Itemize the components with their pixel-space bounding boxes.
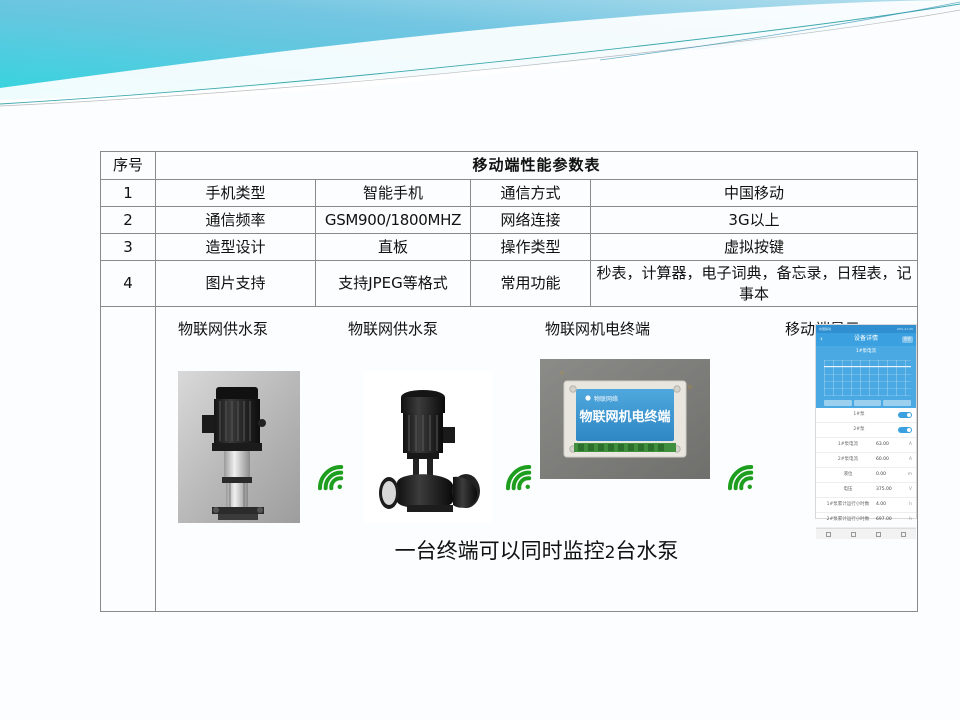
figure-cell: 物联网供水泵 物联网供水泵 物联网机电终端 移动端显示 [156, 307, 918, 612]
list-item[interactable]: 2#泵 [816, 423, 916, 438]
row-key1: 手机类型 [156, 180, 316, 207]
figure-wrapper: 物联网供水泵 物联网供水泵 物联网机电终端 移动端显示 [160, 309, 913, 609]
list-item: 2#泵累计运行小时数 697.00 h [816, 513, 916, 528]
list-item-label: 1#泵累计运行小时数 [820, 502, 876, 508]
row-no: 1 [101, 180, 156, 207]
list-item-label: 2#泵 [820, 427, 898, 433]
list-item-value: 0.00 [876, 472, 902, 478]
figure-row-no-cell [101, 307, 156, 612]
phone-status-bar: 中国移动 40% 21:45 [816, 325, 916, 333]
phone-back-icon[interactable] [876, 532, 881, 537]
figure-label-terminal: 物联网机电终端 [545, 319, 650, 339]
row-key1: 通信频率 [156, 207, 316, 234]
row-val1: GSM900/1800MHZ [316, 207, 471, 234]
phone-nav-bar: ‹ 设备详情 历史 [816, 333, 916, 346]
row-val1: 直板 [316, 234, 471, 261]
list-item-value: 375.00 [876, 487, 902, 493]
terminal-device-label: 物联网机电终端 [579, 409, 670, 425]
list-item: 电压 375.00 V [816, 483, 916, 498]
list-item-value: 697.00 [876, 517, 902, 523]
list-item-label: 1#泵电流 [820, 442, 876, 448]
list-item-label: 液位 [820, 472, 876, 478]
row-val2: 中国移动 [591, 180, 918, 207]
table-row: 4 图片支持 支持JPEG等格式 常用功能 秒表，计算器，电子词典，备忘录，日程… [101, 261, 918, 307]
photo-mobile-screenshot: 中国移动 40% 21:45 ‹ 设备详情 历史 1#泵电流 [815, 324, 917, 519]
photo-inline-pump [363, 371, 493, 523]
phone-chart-tabs[interactable] [824, 400, 911, 406]
list-item-value: 4.00 [876, 502, 902, 508]
pump2-toggle[interactable] [898, 427, 912, 433]
phone-home-icon[interactable] [851, 532, 856, 537]
row-key2: 通信方式 [471, 180, 591, 207]
list-item: 1#泵累计运行小时数 4.00 h [816, 498, 916, 513]
row-no: 4 [101, 261, 156, 307]
wifi-signal-icon [312, 459, 352, 499]
row-no: 3 [101, 234, 156, 261]
table-row: 3 造型设计 直板 操作类型 虚拟按键 [101, 234, 918, 261]
list-item-value: 63.00 [876, 442, 902, 448]
wifi-signal-icon [500, 459, 540, 499]
caption-text-tail: 台水泵 [615, 539, 678, 563]
list-item-unit: A [902, 457, 912, 463]
figure-label-row: 物联网供水泵 物联网供水泵 物联网机电终端 移动端显示 [160, 319, 913, 345]
list-item: 2#泵电流 60.00 A [816, 453, 916, 468]
table-row: 2 通信频率 GSM900/1800MHZ 网络连接 3G以上 [101, 207, 918, 234]
row-key2: 常用功能 [471, 261, 591, 307]
phone-tab-history[interactable] [854, 400, 882, 406]
figure-row: 物联网供水泵 物联网供水泵 物联网机电终端 移动端显示 [101, 307, 918, 612]
phone-chart-line [824, 366, 911, 367]
photo-iot-terminal: 物联网络 物联网机电终端 [540, 359, 710, 479]
table-title-cell: 移动端性能参数表 [156, 152, 918, 180]
list-item-value: 60.00 [876, 457, 902, 463]
status-battery: 40% 21:45 [897, 327, 913, 331]
phone-chart-title: 1#泵电流 [816, 349, 916, 355]
list-item[interactable]: 1#泵 [816, 408, 916, 423]
list-item-unit: V [902, 487, 912, 493]
svg-text:物联网络: 物联网络 [594, 395, 618, 403]
row-key1: 造型设计 [156, 234, 316, 261]
table-row: 1 手机类型 智能手机 通信方式 中国移动 [101, 180, 918, 207]
phone-menu-icon[interactable] [826, 532, 831, 537]
caption-number: 2 [605, 543, 616, 563]
phone-tab-realtime[interactable] [824, 400, 852, 406]
phone-tab-settings[interactable] [883, 400, 911, 406]
row-key1: 图片支持 [156, 261, 316, 307]
banner-swoosh-graphic [0, 0, 960, 112]
status-carrier: 中国移动 [819, 327, 831, 331]
row-key2: 网络连接 [471, 207, 591, 234]
list-item-unit: A [902, 442, 912, 448]
list-item: 1#泵电流 63.00 A [816, 438, 916, 453]
figure-label-pump-1: 物联网供水泵 [178, 319, 268, 339]
phone-nav-title: 设备详情 [854, 335, 878, 343]
phone-parameter-list: 1#泵 2#泵 1#泵电流 63.00 [816, 408, 916, 528]
row-val1: 支持JPEG等格式 [316, 261, 471, 307]
figure-label-pump-2: 物联网供水泵 [348, 319, 438, 339]
row-val2: 3G以上 [591, 207, 918, 234]
decorative-banner [0, 0, 960, 112]
row-val2: 虚拟按键 [591, 234, 918, 261]
list-item-unit: h [902, 517, 912, 523]
list-item-unit: h [902, 502, 912, 508]
row-val2: 秒表，计算器，电子词典，备忘录，日程表，记事本 [591, 261, 918, 307]
phone-nav-action[interactable]: 历史 [902, 336, 913, 343]
list-item-label: 电压 [820, 487, 876, 493]
photo-vertical-pump [178, 371, 300, 523]
row-no: 2 [101, 207, 156, 234]
list-item-label: 1#泵 [820, 412, 898, 418]
phone-recents-icon[interactable] [901, 532, 906, 537]
wifi-signal-icon [722, 459, 762, 499]
list-item-label: 2#泵电流 [820, 457, 876, 463]
figure-caption: 一台终端可以同时监控2台水泵 [160, 537, 913, 565]
list-item: 液位 0.00 m [816, 468, 916, 483]
caption-text-lead: 一台终端可以同时监控 [395, 539, 605, 563]
table-header-row: 序号 移动端性能参数表 [101, 152, 918, 180]
list-item-unit: m [902, 472, 912, 478]
row-key2: 操作类型 [471, 234, 591, 261]
list-item-label: 2#泵累计运行小时数 [820, 517, 876, 523]
pump1-toggle[interactable] [898, 412, 912, 418]
row-val1: 智能手机 [316, 180, 471, 207]
mobile-parameter-table: 序号 移动端性能参数表 1 手机类型 智能手机 通信方式 中国移动 2 通信频率… [100, 151, 918, 612]
header-cell-no: 序号 [101, 152, 156, 180]
back-chevron-icon[interactable]: ‹ [820, 335, 823, 344]
phone-chart-panel: 1#泵电流 [816, 346, 916, 408]
phone-frame: 中国移动 40% 21:45 ‹ 设备详情 历史 1#泵电流 [815, 324, 917, 519]
slide-canvas: 序号 移动端性能参数表 1 手机类型 智能手机 通信方式 中国移动 2 通信频率… [0, 0, 960, 720]
